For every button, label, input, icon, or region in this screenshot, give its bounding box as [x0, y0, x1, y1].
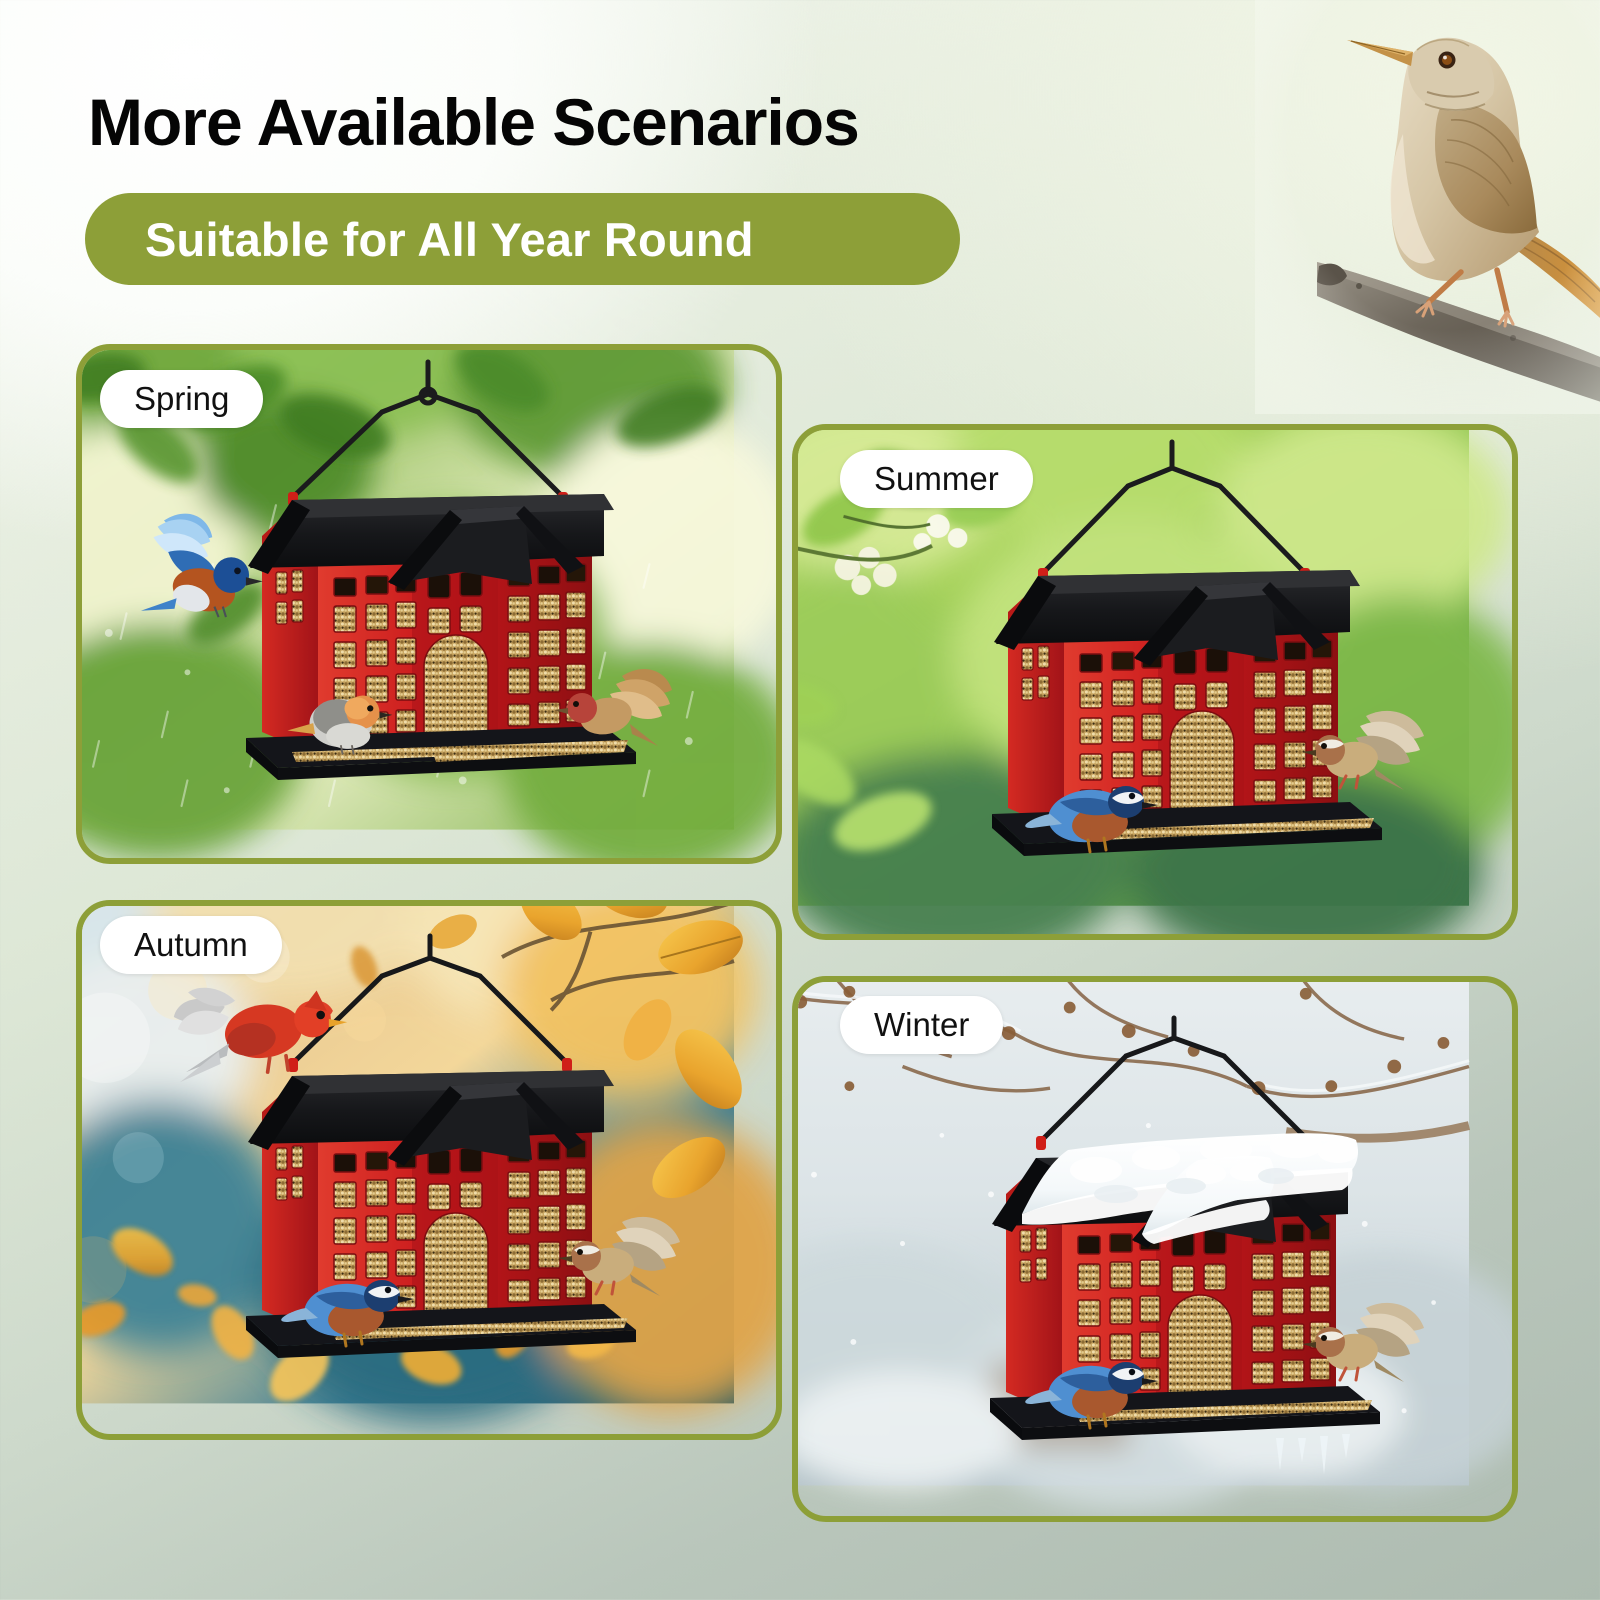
- season-tag-autumn: Autumn: [100, 916, 282, 974]
- hanger-wire: [1044, 442, 1304, 572]
- subtitle-badge: Suitable for All Year Round: [85, 193, 960, 285]
- season-label-winter: Winter: [874, 1006, 969, 1044]
- hero-bird-image: [1255, 0, 1600, 414]
- product-feeder-autumn: [232, 936, 662, 1416]
- branch-shape: [1317, 262, 1600, 404]
- season-tag-summer: Summer: [840, 450, 1033, 508]
- hanger-wire: [1042, 1018, 1310, 1142]
- page-title: More Available Scenarios: [88, 88, 1248, 157]
- hanger-wire: [294, 362, 562, 496]
- bird-body: [1347, 38, 1539, 281]
- season-label-spring: Spring: [134, 380, 229, 418]
- product-feeder-spring: [232, 360, 652, 840]
- season-label-autumn: Autumn: [134, 926, 248, 964]
- season-label-summer: Summer: [874, 460, 999, 498]
- bird-tail: [1511, 230, 1600, 324]
- season-tag-winter: Winter: [840, 996, 1003, 1054]
- bird-legs: [1429, 270, 1507, 312]
- season-panel-autumn[interactable]: [76, 900, 782, 1440]
- product-feeder-winter: [976, 1018, 1406, 1498]
- subtitle-text: Suitable for All Year Round: [85, 212, 754, 267]
- season-panel-winter[interactable]: [792, 976, 1518, 1522]
- hanger-wire: [294, 936, 566, 1062]
- product-feeder-summer: [976, 442, 1396, 912]
- season-tag-spring: Spring: [100, 370, 263, 428]
